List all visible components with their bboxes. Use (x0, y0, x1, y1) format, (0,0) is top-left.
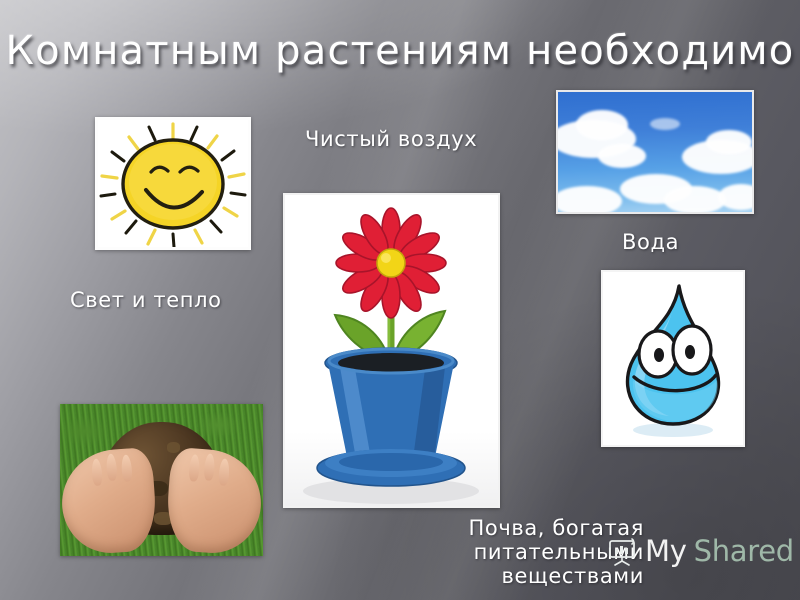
flower-in-pot-icon (285, 195, 498, 506)
finger (120, 454, 132, 482)
finger (203, 453, 215, 481)
water-drop-canvas (603, 272, 743, 445)
presentation-slide: Комнатным растениям необходимо (0, 0, 800, 600)
finger (105, 453, 117, 481)
flower-pot-image (283, 193, 500, 508)
cloud-shape (598, 144, 646, 168)
slide-title: Комнатным растениям необходимо (0, 28, 800, 74)
cloud-shape (650, 118, 680, 130)
sky-image-canvas (558, 92, 752, 212)
caption-water: Вода (622, 230, 679, 254)
sky-image (556, 90, 754, 214)
sun-image-canvas (98, 120, 248, 247)
water-drop-icon (603, 272, 743, 445)
soil-image (60, 404, 263, 556)
watermark-text-secondary: Shared (694, 534, 794, 568)
finger (188, 454, 200, 482)
caption-soil: Почва, богатая питательными веществами (344, 516, 644, 588)
presentation-board-icon (608, 536, 638, 566)
caption-light: Свет и тепло (70, 288, 222, 312)
myshared-watermark: My Shared (608, 534, 794, 568)
watermark-text-primary: My (645, 534, 687, 568)
soil-image-canvas (60, 404, 263, 556)
cloud-shape (664, 186, 726, 214)
soil-clod (167, 442, 181, 452)
cloud-shape (706, 130, 752, 154)
sun-image (95, 117, 251, 250)
finger (217, 458, 229, 486)
caption-air: Чистый воздух (305, 127, 477, 151)
water-drop-image (601, 270, 745, 447)
sun-icon (98, 120, 248, 247)
flower-pot-canvas (285, 195, 498, 506)
cloud-shape (556, 186, 622, 214)
cloud-shape (576, 110, 628, 140)
finger (91, 458, 103, 486)
